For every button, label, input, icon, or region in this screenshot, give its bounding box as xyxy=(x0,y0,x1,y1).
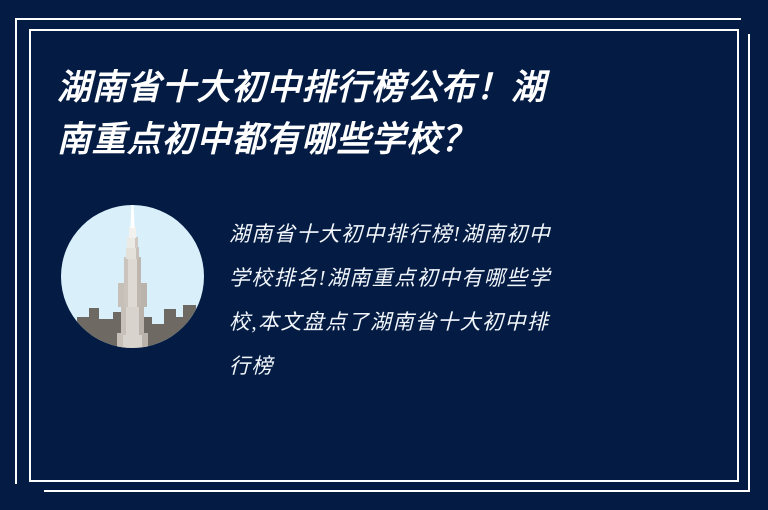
article-summary-text: 湖南省十大初中排行榜!湖南初中 学校排名!湖南重点初中有哪些学 校,本文盘点了湖… xyxy=(229,212,649,388)
frame-mask-right xyxy=(741,0,768,34)
page-title: 湖南省十大初中排行榜公布！湖 南重点初中都有哪些学校？ xyxy=(57,62,657,166)
poster-canvas: 湖南省十大初中排行榜公布！湖 南重点初中都有哪些学校？ xyxy=(0,0,768,510)
article-summary-line-3: 校,本文盘点了湖南省十大初中排 xyxy=(229,300,649,344)
page-title-line-2: 南重点初中都有哪些学校？ xyxy=(57,114,639,166)
empire-state-building-illustration xyxy=(61,205,204,348)
article-summary-line-2: 学校排名!湖南重点初中有哪些学 xyxy=(229,256,649,300)
article-summary-line-1: 湖南省十大初中排行榜!湖南初中 xyxy=(229,212,649,256)
illustration-svg xyxy=(61,205,204,348)
frame-mask-bottom xyxy=(0,484,44,510)
page-title-line-1: 湖南省十大初中排行榜公布！湖 xyxy=(57,62,639,114)
article-summary-line-4: 行榜 xyxy=(229,344,649,388)
